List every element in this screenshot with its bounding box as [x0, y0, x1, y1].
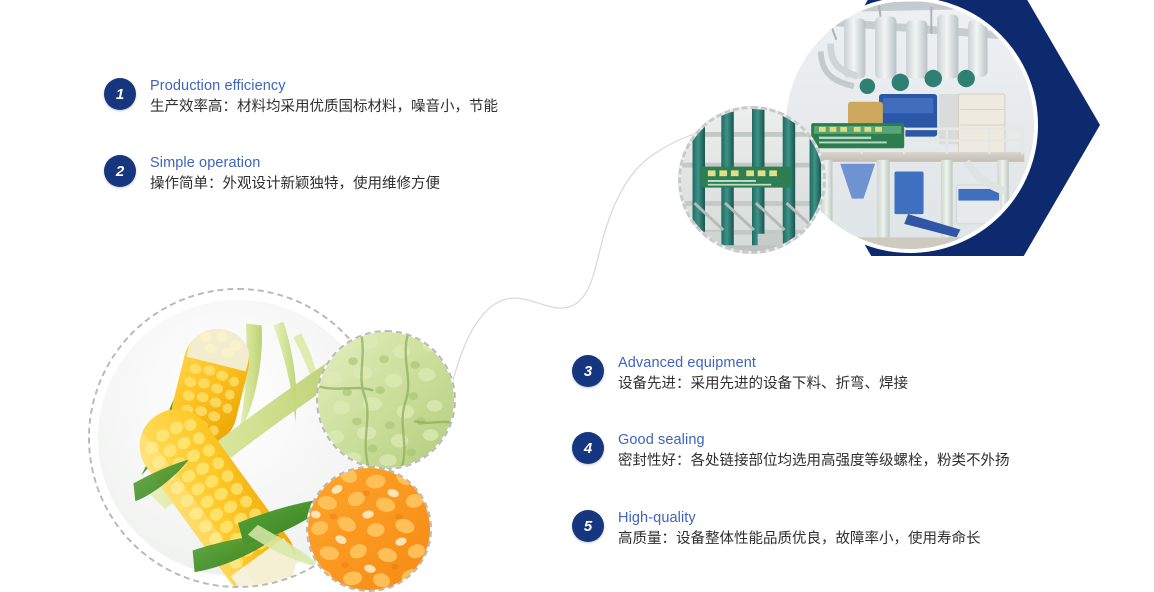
feature-text-5: High-quality 高质量：设备整体性能品质优良，故障率小，使用寿命长 [618, 510, 981, 549]
feature-description-3: 设备先进：采用先进的设备下料、折弯、焊接 [618, 374, 908, 394]
feature-description-2: 操作简单：外观设计新颖独特，使用维修方便 [150, 174, 440, 194]
feature-badge-4: 4 [572, 432, 604, 464]
orange-corn-grits-photo [306, 466, 432, 592]
feature-heading-1: Production efficiency [150, 78, 498, 95]
corn-image-cluster [88, 288, 488, 591]
feature-heading-2: Simple operation [150, 155, 440, 172]
feature-item-1: 1 Production efficiency 生产效率高：材料均采用优质国标材… [104, 78, 498, 117]
feature-badge-3: 3 [572, 355, 604, 387]
green-corn-flour-photo [316, 330, 456, 470]
infographic-stage: 1 Production efficiency 生产效率高：材料均采用优质国标材… [0, 0, 1154, 591]
feature-text-4: Good sealing 密封性好：各处链接部位均选用高强度等级螺栓，粉类不外扬 [618, 432, 1010, 471]
feature-badge-1: 1 [104, 78, 136, 110]
machinery-image-cluster [670, 0, 1154, 274]
feature-heading-3: Advanced equipment [618, 355, 908, 372]
feature-description-1: 生产效率高：材料均采用优质国标材料，噪音小，节能 [150, 97, 498, 117]
feature-item-5: 5 High-quality 高质量：设备整体性能品质优良，故障率小，使用寿命长 [572, 510, 981, 549]
feature-heading-5: High-quality [618, 510, 981, 527]
feature-description-4: 密封性好：各处链接部位均选用高强度等级螺栓，粉类不外扬 [618, 451, 1010, 471]
feature-item-2: 2 Simple operation 操作简单：外观设计新颖独特，使用维修方便 [104, 155, 440, 194]
feature-item-3: 3 Advanced equipment 设备先进：采用先进的设备下料、折弯、焊… [572, 355, 908, 394]
feature-description-5: 高质量：设备整体性能品质优良，故障率小，使用寿命长 [618, 529, 981, 549]
feature-text-3: Advanced equipment 设备先进：采用先进的设备下料、折弯、焊接 [618, 355, 908, 394]
feature-badge-2: 2 [104, 155, 136, 187]
feature-item-4: 4 Good sealing 密封性好：各处链接部位均选用高强度等级螺栓，粉类不… [572, 432, 1010, 471]
feature-badge-5: 5 [572, 510, 604, 542]
feature-text-2: Simple operation 操作简单：外观设计新颖独特，使用维修方便 [150, 155, 440, 194]
feature-text-1: Production efficiency 生产效率高：材料均采用优质国标材料，… [150, 78, 498, 117]
teal-milling-equipment-photo [678, 106, 826, 254]
feature-heading-4: Good sealing [618, 432, 1010, 449]
